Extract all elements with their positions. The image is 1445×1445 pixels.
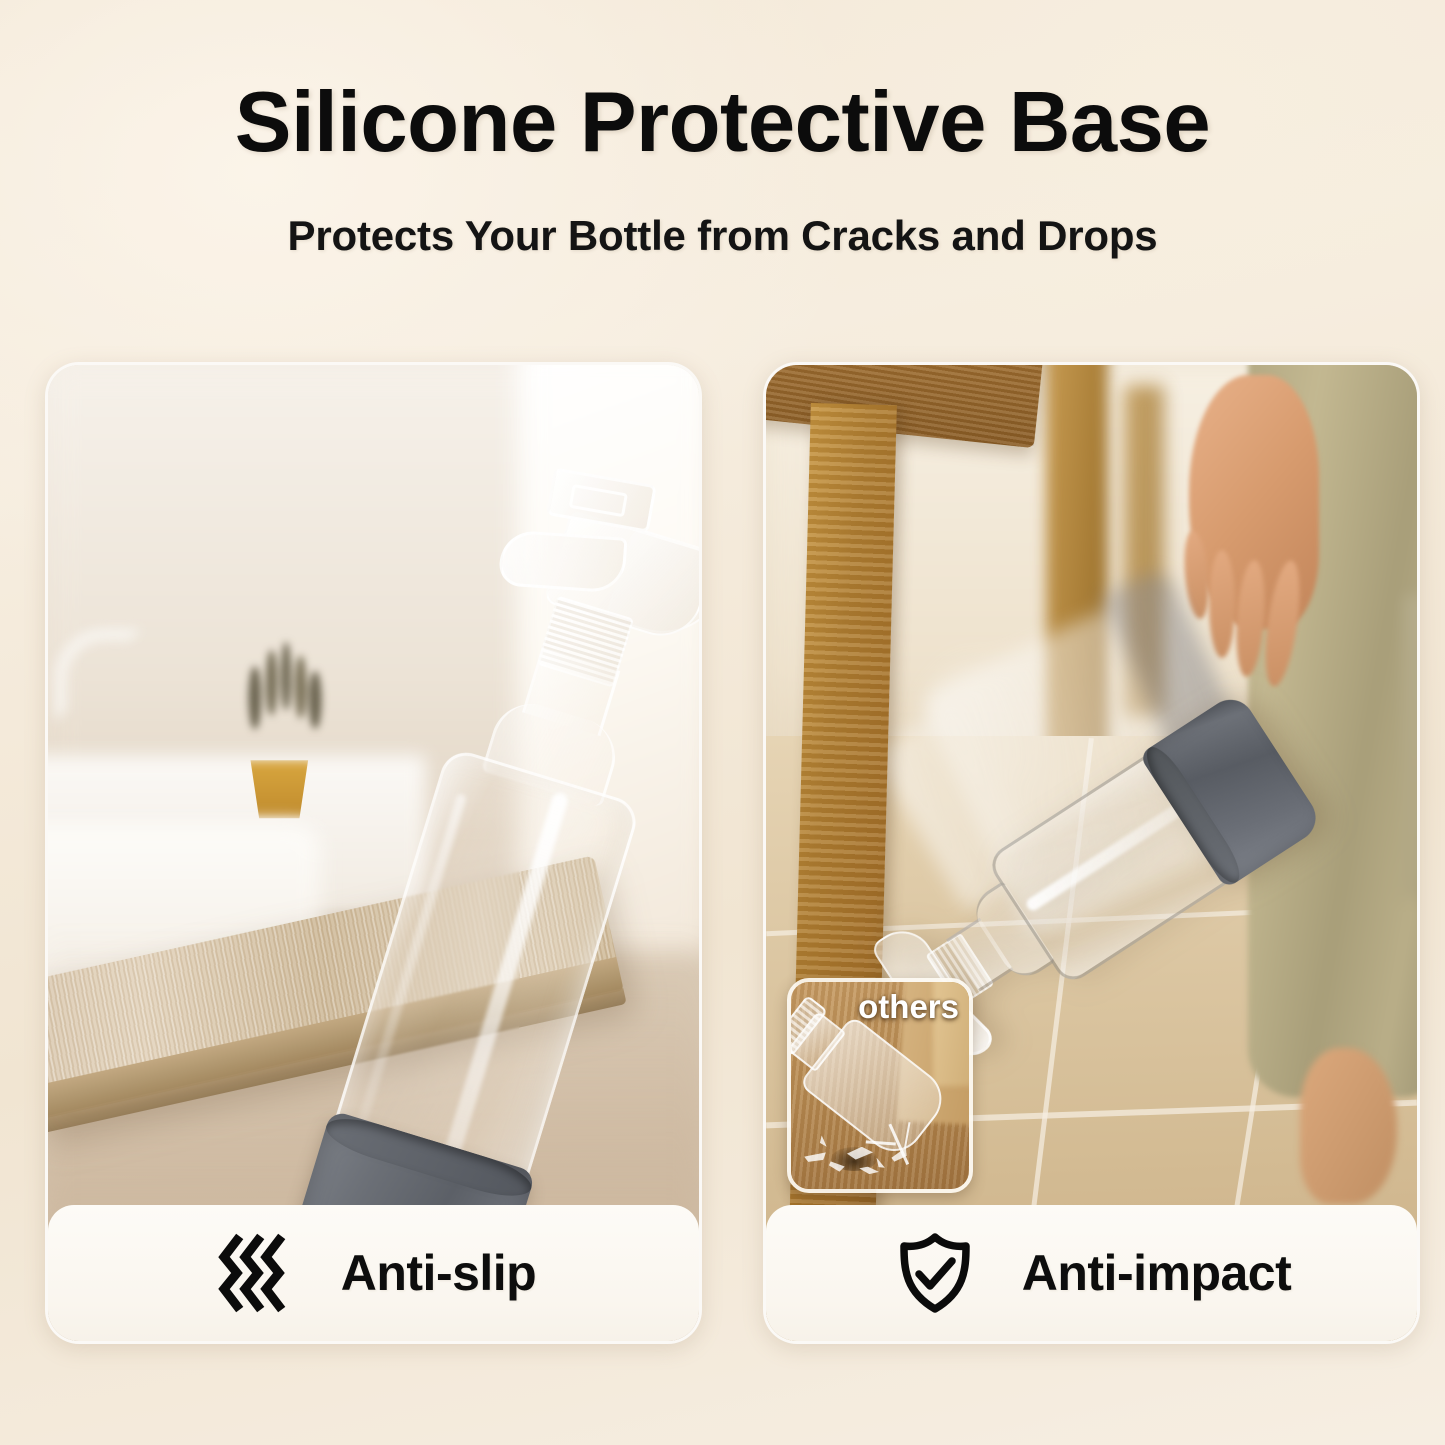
glass-shard xyxy=(804,1150,828,1165)
glass-shard xyxy=(828,1160,845,1173)
feature-label-card-anti-slip: Anti-slip xyxy=(48,1205,699,1341)
friction-zigzag-icon xyxy=(211,1230,297,1316)
blurred-plant-leaves xyxy=(232,633,336,741)
glass-shard xyxy=(817,1135,829,1148)
glass-shard xyxy=(846,1145,873,1161)
glass-shard xyxy=(890,1147,910,1163)
page-title: Silicone Protective Base xyxy=(0,78,1445,168)
page-subtitle: Protects Your Bottle from Cracks and Dro… xyxy=(0,212,1445,260)
inset-label-others: others xyxy=(858,988,959,1026)
header: Silicone Protective Base Protects Your B… xyxy=(0,78,1445,260)
scene-bathroom-plank xyxy=(48,365,699,1341)
glass-shard xyxy=(873,1158,887,1171)
shield-check-icon xyxy=(892,1230,978,1316)
feature-panel-anti-impact: others Anti-impact xyxy=(763,362,1420,1344)
glass-shard xyxy=(858,1165,879,1176)
sprayer-nozzle xyxy=(546,467,657,532)
scene-floor-drop: others xyxy=(766,365,1417,1341)
bare-foot xyxy=(1300,1048,1398,1204)
others-comparison-inset: others xyxy=(787,978,973,1193)
feature-label-text: Anti-slip xyxy=(341,1244,536,1302)
glass-shards xyxy=(799,1123,929,1177)
finger xyxy=(1209,550,1235,657)
feature-label-card-anti-impact: Anti-impact xyxy=(766,1205,1417,1341)
feature-panel-anti-slip: Anti-slip xyxy=(45,362,702,1344)
sprayer-trigger xyxy=(498,529,628,594)
feature-label-text: Anti-impact xyxy=(1022,1244,1292,1302)
trouser-fold xyxy=(1404,595,1417,900)
nozzle-aperture xyxy=(569,484,628,517)
infographic-canvas: Silicone Protective Base Protects Your B… xyxy=(0,0,1445,1445)
